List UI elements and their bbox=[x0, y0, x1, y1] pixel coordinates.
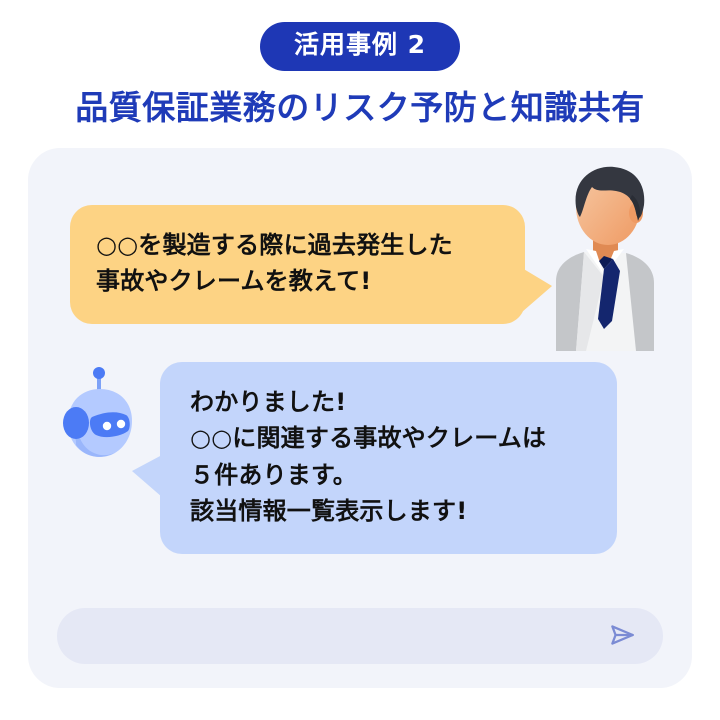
message-row-user: ○○を製造する際に過去発生した 事故やクレームを教えて! bbox=[28, 148, 692, 348]
use-case-badge: 活用事例 2 bbox=[260, 22, 460, 71]
user-message-line: 事故やクレームを教えて! bbox=[96, 263, 499, 299]
page-header: 活用事例 2 品質保証業務のリスク予防と知識共有 bbox=[0, 0, 720, 127]
bot-message-line: 該当情報一覧表示します! bbox=[190, 493, 591, 529]
bot-message-line: ○○に関連する事故やクレームは bbox=[190, 420, 591, 456]
bot-bubble-tail bbox=[132, 455, 162, 497]
message-input[interactable] bbox=[83, 607, 603, 665]
chat-panel: ○○を製造する際に過去発生した 事故やクレームを教えて! bbox=[28, 148, 692, 688]
page-title: 品質保証業務のリスク予防と知識共有 bbox=[0, 88, 720, 128]
message-row-bot: わかりました! ○○に関連する事故やクレームは ５件あります。 該当情報一覧表示… bbox=[28, 353, 692, 563]
bot-message-bubble: わかりました! ○○に関連する事故やクレームは ５件あります。 該当情報一覧表示… bbox=[160, 362, 617, 554]
user-message-bubble: ○○を製造する際に過去発生した 事故やクレームを教えて! bbox=[70, 205, 525, 324]
businessman-avatar bbox=[536, 161, 671, 351]
user-message-line: ○○を製造する際に過去発生した bbox=[96, 227, 499, 263]
robot-avatar bbox=[54, 365, 144, 465]
send-paper-plane-icon bbox=[607, 620, 637, 653]
message-composer[interactable] bbox=[57, 608, 663, 664]
bot-message-line: ５件あります。 bbox=[190, 457, 591, 493]
bot-message-line: わかりました! bbox=[190, 384, 591, 420]
send-button[interactable] bbox=[603, 617, 641, 655]
